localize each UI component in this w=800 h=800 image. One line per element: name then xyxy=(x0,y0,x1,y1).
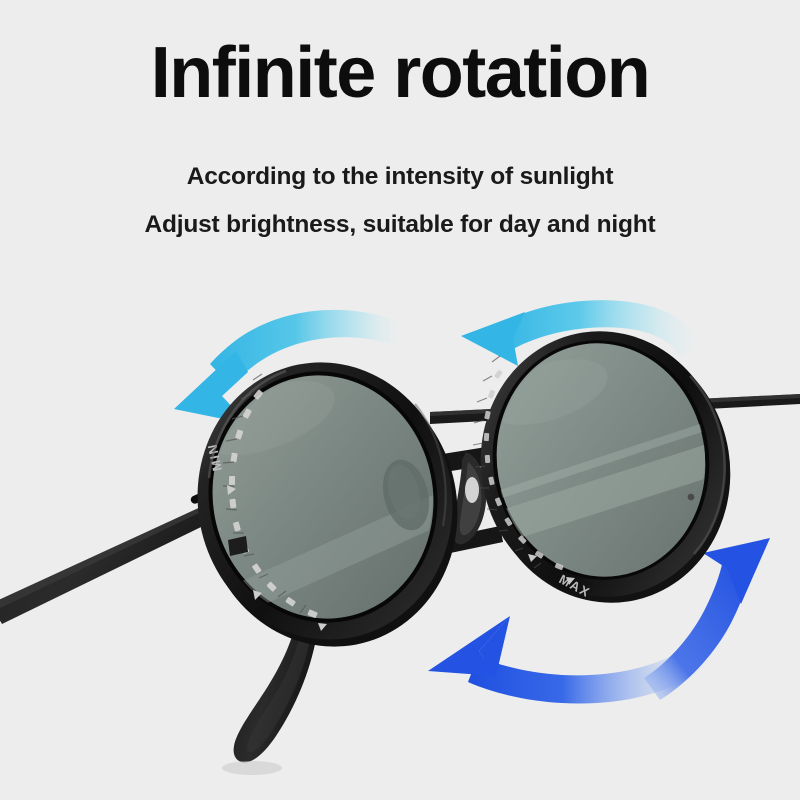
product-illustration: MAX xyxy=(0,0,800,800)
product-shadow xyxy=(222,761,282,775)
lens-right: MAX xyxy=(462,314,750,621)
promo-banner: Infinite rotation According to the inten… xyxy=(0,0,800,800)
